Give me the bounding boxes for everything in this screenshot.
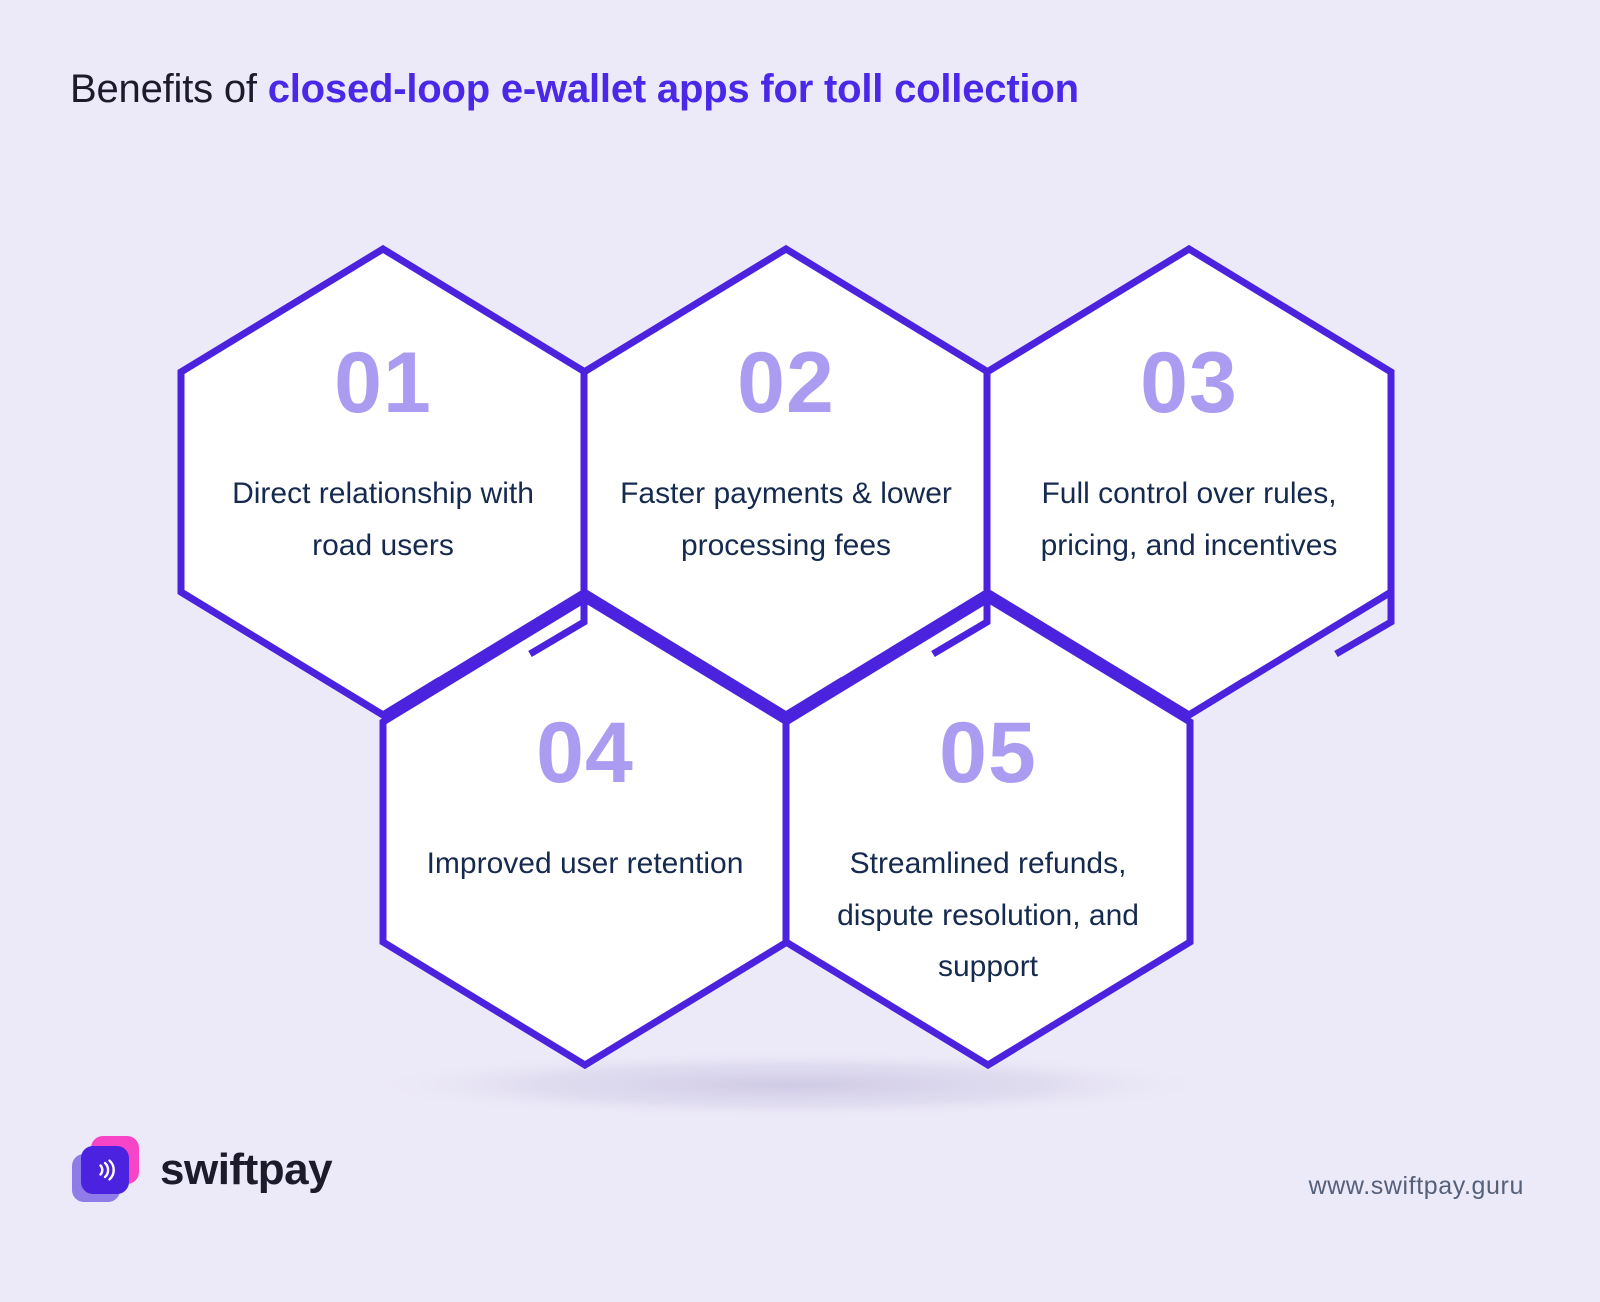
hex-label-01: 01 Direct relationship with road users — [181, 340, 585, 571]
swiftpay-logo-mark — [72, 1136, 140, 1204]
hex-label-04: 04 Improved user retention — [383, 710, 787, 890]
hex-number-05: 05 — [786, 710, 1190, 796]
hex-number-01: 01 — [181, 340, 585, 426]
hex-number-03: 03 — [987, 340, 1391, 426]
hex-label-03: 03 Full control over rules, pricing, and… — [987, 340, 1391, 571]
brand-lockup: swiftpay — [72, 1136, 332, 1204]
site-url: www.swiftpay.guru — [1309, 1172, 1524, 1201]
hex-text-04: Improved user retention — [383, 838, 787, 890]
hex-text-05: Streamlined refunds, dispute resolution,… — [786, 838, 1190, 993]
hex-text-01: Direct relationship with road users — [181, 468, 585, 571]
ground-shadow — [360, 1051, 1220, 1119]
hexagon-diagram: 01 Direct relationship with road users 0… — [0, 0, 1600, 1302]
hex-text-03: Full control over rules, pricing, and in… — [987, 468, 1391, 571]
brand-name: swiftpay — [160, 1148, 332, 1192]
contactless-nfc-icon — [81, 1146, 129, 1194]
hex-label-05: 05 Streamlined refunds, dispute resoluti… — [786, 710, 1190, 993]
hex-number-04: 04 — [383, 710, 787, 796]
hex-text-02: Faster payments & lower processing fees — [584, 468, 988, 571]
hex-label-02: 02 Faster payments & lower processing fe… — [584, 340, 988, 571]
infographic-root: Benefits of closed-loop e-wallet apps fo… — [0, 0, 1600, 1302]
hex-number-02: 02 — [584, 340, 988, 426]
